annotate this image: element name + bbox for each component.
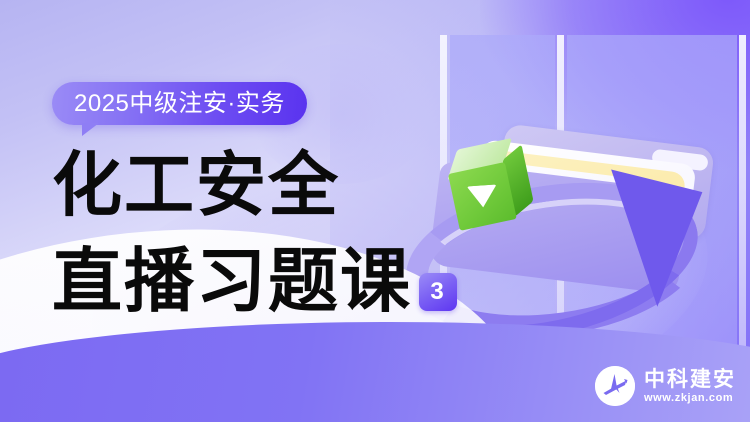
course-promo-banner: 2025中级注安·实务 化工安全 直播习题课 3 中科建安 www.zkjan.… xyxy=(0,0,750,422)
play-triangle-icon xyxy=(467,184,498,208)
badge-bubble: 2025中级注安·实务 xyxy=(52,82,307,125)
title-line-2-wrap: 直播习题课 3 xyxy=(52,248,457,318)
green-play-cube-icon xyxy=(443,133,552,242)
panel-separator-3 xyxy=(739,35,746,365)
badge-tail xyxy=(82,123,99,136)
brand-logo: 中科建安 www.zkjan.com xyxy=(595,366,736,406)
episode-number-badge: 3 xyxy=(419,273,457,311)
title-line-1-wrap: 化工安全 xyxy=(52,152,457,222)
page-title: 化工安全 直播习题课 3 xyxy=(52,152,457,318)
zkjan-circle-logo-icon xyxy=(595,366,635,406)
brand-logo-text: 中科建安 www.zkjan.com xyxy=(644,369,736,404)
brand-name-cn: 中科建安 xyxy=(644,369,736,390)
title-line-1: 化工安全 xyxy=(52,148,340,225)
course-category-badge: 2025中级注安·实务 xyxy=(52,82,307,125)
brand-url: www.zkjan.com xyxy=(644,393,736,404)
title-line-2: 直播习题课 xyxy=(52,248,412,318)
badge-label: 2025中级注安·实务 xyxy=(74,92,285,116)
